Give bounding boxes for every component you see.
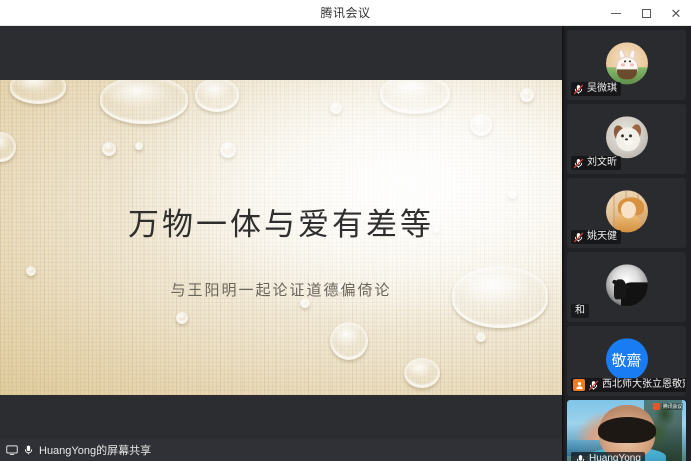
avatar: 敬齋 [606,338,648,380]
participant-name: 和 [575,304,585,318]
participant-tile[interactable]: 姚天健 [567,178,686,248]
video-watermark: 腾讯会议 [653,403,683,410]
slide-title: 万物一体与爱有差等 [0,206,562,243]
sidebar-edge-shadow [562,26,565,461]
tencent-meeting-window: 腾讯会议 ✕ [0,0,691,461]
participant-name-chip: 刘文昕 [571,156,621,170]
maximize-icon [642,9,651,18]
minimize-icon [611,13,621,14]
watermark-text: 腾讯会议 [662,403,683,410]
participant-name-chip: HuangYong [571,452,645,461]
maximize-button[interactable] [631,0,661,26]
window-titlebar: 腾讯会议 ✕ [0,0,691,26]
close-icon: ✕ [671,7,682,20]
participant-name: 西北师大张立恩敬齋 [602,378,685,392]
participant-name: HuangYong [589,452,641,461]
microphone-icon [23,444,34,456]
bubble-decoration [0,132,16,162]
avatar [606,264,648,306]
dog-photo-icon [606,116,648,158]
avatar [606,116,648,158]
bubble-decoration [330,322,368,360]
slide-text-block: 万物一体与爱有差等 与王阳明一起论证道德偏倚论 [0,206,562,300]
avatar [606,42,648,84]
participant-tile[interactable]: 敬齋 [567,326,686,396]
bubble-decoration [380,80,450,114]
minimize-button[interactable] [601,0,631,26]
microphone-icon [575,454,586,461]
screen-share-status-text: HuangYong的屏幕共享 [39,442,151,458]
microphone-muted-icon [588,380,599,391]
app-logo-icon [653,403,660,410]
screen-share-status-bar: HuangYong的屏幕共享 [0,439,562,461]
fresco-illustration-icon [606,190,648,232]
meeting-body: 万物一体与爱有差等 与王阳明一起论证道德偏倚论 [0,26,691,461]
participant-tile[interactable]: 腾讯会议 HuangYong [567,400,686,461]
presentation-slide: 万物一体与爱有差等 与王阳明一起论证道德偏倚论 [0,80,562,395]
blackwhite-photo-icon [606,264,648,306]
bubble-decoration [195,80,239,112]
participant-tile[interactable]: 和 [567,252,686,322]
microphone-muted-icon [573,232,584,243]
participant-tile[interactable]: 刘文昕 [567,104,686,174]
participant-sidebar[interactable]: 吴微琪 [562,26,691,461]
window-title: 腾讯会议 [320,4,370,21]
bubble-decoration [520,88,534,102]
bubble-decoration [10,80,66,104]
participant-name-chip: 西北师大张立恩敬齋 [571,378,686,392]
bubble-decoration [176,312,188,324]
avatar-initials: 敬齋 [611,349,641,370]
participant-name-chip: 姚天健 [571,230,621,244]
bubble-decoration [135,142,143,150]
bubble-decoration [102,142,116,156]
participant-tile[interactable]: 吴微琪 [567,30,686,100]
bubble-decoration [470,114,492,136]
bunny-illustration-icon [606,42,648,84]
screen-share-icon [6,444,18,456]
bubble-decoration [330,102,342,114]
bubble-decoration [476,332,486,342]
microphone-muted-icon [573,84,584,95]
participant-name: 刘文昕 [587,156,617,170]
close-button[interactable]: ✕ [661,0,691,26]
participant-name: 姚天健 [587,230,617,244]
participant-name: 吴微琪 [587,82,617,96]
slide-subtitle: 与王阳明一起论证道德偏倚论 [0,279,562,300]
bubble-decoration [220,142,236,158]
avatar [606,190,648,232]
bubble-decoration [100,80,188,124]
microphone-muted-icon [573,158,584,169]
bubble-decoration [508,190,517,199]
bubble-decoration [404,358,440,388]
host-person-icon [573,379,585,391]
participant-name-chip: 吴微琪 [571,82,621,96]
participant-name-chip: 和 [571,304,589,318]
shared-screen-stage[interactable]: 万物一体与爱有差等 与王阳明一起论证道德偏倚论 [0,26,562,461]
window-controls: ✕ [601,0,691,26]
